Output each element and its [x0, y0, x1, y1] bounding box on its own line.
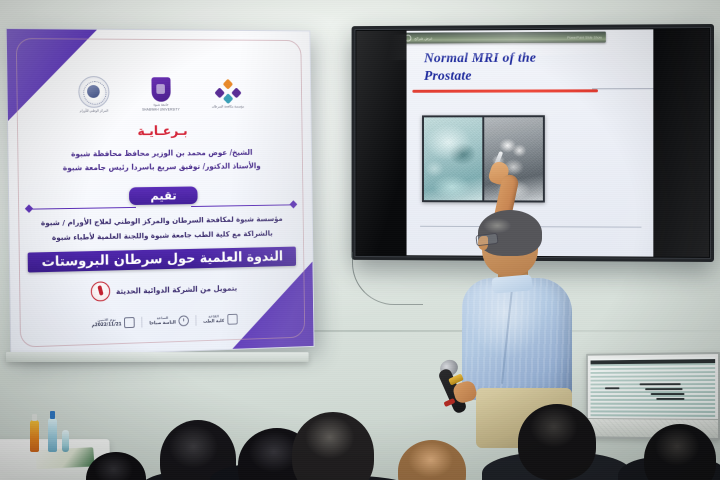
- meta-value-location: كلية الطب: [203, 319, 224, 325]
- slide-title-underline-thin: [592, 88, 653, 89]
- screen-letterbox-right: [653, 29, 709, 257]
- slideshow-toolbar[interactable]: عرض شرائح PowerPoint Slide Show: [407, 32, 606, 44]
- poster-meta-time: الساعة الثامنة صباحا: [149, 315, 189, 327]
- poster-organizes-row: تقيم: [9, 181, 312, 211]
- poster-logo-row: المركز الوطني للأورام جامعة شبوة SHABWAH…: [7, 71, 310, 117]
- poster-patron-line-1: الشيخ/ عوض محمد بن الوزير محافظ محافظة ش…: [32, 147, 289, 160]
- meta-divider-2: [142, 316, 143, 327]
- presenter-shirt: [462, 278, 572, 400]
- meta-divider-1: [196, 315, 197, 326]
- oncology-center-emblem-icon: المركز الوطني للأورام: [78, 76, 110, 113]
- water-bottle: [48, 418, 57, 452]
- poster-event-title: الندوة العلمية حول سرطان البروستات: [28, 247, 296, 273]
- slide-title-line-2: Prostate: [424, 67, 639, 85]
- toolbar-label: عرض شرائح: [414, 36, 432, 40]
- clock-icon: [179, 315, 190, 326]
- shabwah-university-logo-icon: جامعة شبوة SHABWAH UNIVERSITY: [142, 77, 180, 111]
- audience-head-5: [518, 404, 596, 480]
- conference-room-scene: المركز الوطني للأورام جامعة شبوة SHABWAH…: [0, 0, 720, 480]
- poster-patron-line-2: والأستاذ الدكتور/ توفيق سريع باسردا رئيس…: [32, 160, 289, 174]
- slide-title: Normal MRI of the Prostate: [424, 49, 639, 85]
- poster-funding-text: بتمويل من الشركة الدوائية الحديثة: [116, 283, 237, 295]
- calendar-icon: [124, 317, 135, 328]
- orange-juice-bottle: [30, 420, 39, 452]
- record-icon[interactable]: [407, 35, 412, 42]
- logo-caption-2-en: SHABWAH UNIVERSITY: [142, 107, 180, 111]
- location-icon: [227, 313, 237, 324]
- small-bottle: [62, 430, 69, 452]
- poster-organizer-line-2: بالشراكة مع كلية الطب جامعة شبوة واللجنة…: [27, 227, 295, 243]
- screen-letterbox-left: [356, 31, 406, 255]
- meta-value-date: 2022/11/21م: [92, 322, 122, 328]
- national-cancer-foundation-logo-icon: مؤسسة مكافحة السرطان: [211, 80, 244, 108]
- slide-title-underline: [412, 89, 598, 92]
- meta-value-time: الثامنة صباحا: [149, 320, 176, 326]
- slide-title-line-1: Normal MRI of the: [424, 49, 639, 67]
- logo-caption-3: مؤسسة مكافحة السرطان: [212, 104, 244, 108]
- window-with-blinds: [586, 352, 720, 440]
- poster-organizes-badge: تقيم: [129, 186, 197, 205]
- event-poster: المركز الوطني للأورام جامعة شبوة SHABWAH…: [6, 28, 315, 358]
- poster-patronage-heading: بـرعـايـة: [8, 124, 311, 140]
- poster-meta-location: القاعة كلية الطب: [203, 313, 237, 325]
- logo-caption-1: المركز الوطني للأورام: [80, 108, 109, 112]
- logo-caption-2-ar: جامعة شبوة: [153, 102, 168, 106]
- poster-meta-date: يوم الاثنين 2022/11/21م: [92, 317, 135, 329]
- poster-organizer-line-1: مؤسسة شبوة لمكافحة السرطان والمركز الوطن…: [27, 213, 295, 229]
- toolbar-right-label: PowerPoint Slide Show: [567, 35, 602, 39]
- pharma-company-logo-icon: [91, 281, 111, 301]
- poster-base-edge: [6, 352, 309, 362]
